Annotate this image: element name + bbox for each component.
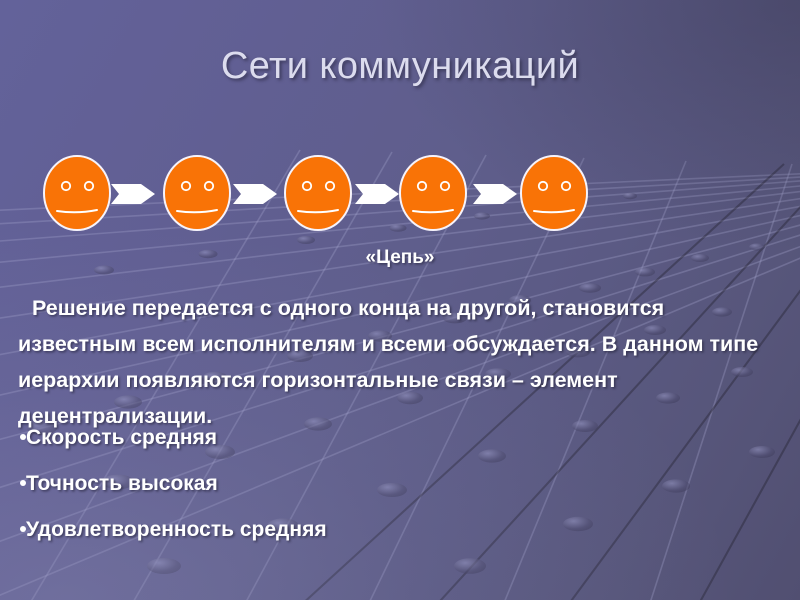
list-item-label: Удовлетворенность средняя [26,518,327,541]
list-item-label: Скорость средняя [26,426,217,449]
body-paragraph: Решение передается с одного конца на дру… [18,290,784,434]
smiley-face-node [42,154,112,232]
list-item: Удовлетворенность средняя [20,516,540,562]
diagram-caption: «Цепь» [0,247,800,269]
arrow-connector [473,182,517,206]
smiley-face-node [283,154,353,232]
slide-canvas: Сети коммуникаций [0,0,800,600]
list-item-label: Точность высокая [26,472,218,495]
smiley-face-node [162,154,232,232]
arrow-connector [355,182,399,206]
chain-diagram [30,150,630,236]
smiley-face-node [398,154,468,232]
bullet-list: Скорость средняя Точность высокая Удовле… [20,424,540,562]
list-item: Скорость средняя [20,424,540,470]
list-item: Точность высокая [20,470,540,516]
arrow-connector [233,182,277,206]
page-title: Сети коммуникаций [0,45,800,88]
arrow-connector [111,182,155,206]
smiley-face-node [519,154,589,232]
